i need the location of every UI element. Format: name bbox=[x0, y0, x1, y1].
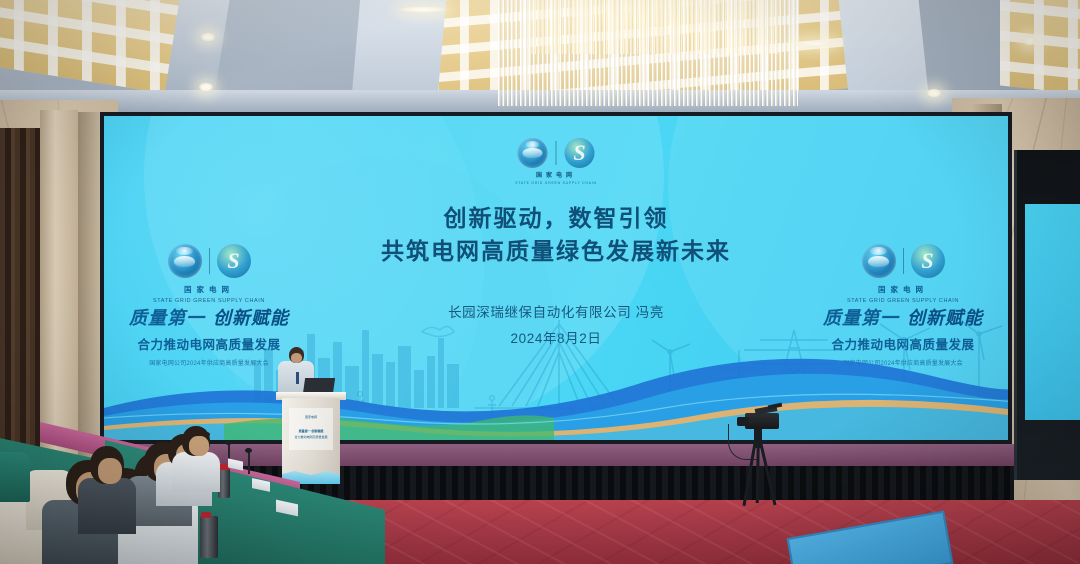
logo-divider bbox=[209, 248, 210, 274]
speaker-face bbox=[291, 353, 302, 363]
ceiling-coffer-right bbox=[1000, 0, 1080, 104]
person-face bbox=[98, 458, 122, 484]
state-grid-emblem-icon bbox=[168, 244, 202, 278]
banner-logo-right bbox=[814, 244, 992, 278]
podium-sign-line1: 质量第一 创新赋能 bbox=[289, 428, 333, 435]
microphone-head-icon bbox=[245, 448, 252, 453]
center-logo-caption: 国家电网 bbox=[515, 170, 597, 179]
ceiling-coffer-left bbox=[0, 0, 180, 96]
crystal-chandelier bbox=[498, 0, 798, 106]
downlight-icon bbox=[200, 32, 216, 42]
state-grid-emblem-icon bbox=[862, 244, 896, 278]
person-body bbox=[172, 452, 220, 492]
thermos-lid bbox=[201, 512, 211, 518]
podium: 国家电网 质量第一 创新赋能 合力推动电网高质量发展 bbox=[282, 398, 340, 484]
podium-sign: 国家电网 质量第一 创新赋能 合力推动电网高质量发展 bbox=[289, 408, 333, 450]
thermos-flask bbox=[200, 516, 218, 558]
scenery-graphic bbox=[104, 290, 1008, 440]
curtain-left bbox=[0, 128, 40, 458]
speaker-badge bbox=[296, 372, 299, 384]
conference-hall-photo: 国家电网 STATE GRID GREEN SUPPLY CHAIN 创新驱动，… bbox=[0, 0, 1080, 564]
downlight-icon bbox=[926, 88, 942, 98]
chandelier-crystal-rods bbox=[528, 0, 778, 54]
banner-logo-left bbox=[120, 244, 298, 278]
bird-icon bbox=[422, 326, 454, 336]
chair bbox=[0, 452, 30, 502]
person-face bbox=[189, 436, 209, 456]
secondary-screen-right bbox=[1014, 150, 1080, 480]
podium-sign-title: 国家电网 bbox=[289, 414, 333, 421]
microphone-head-icon bbox=[225, 440, 232, 445]
logo-divider bbox=[556, 141, 557, 165]
supply-chain-s-emblem-icon bbox=[911, 244, 945, 278]
person-body bbox=[78, 478, 136, 534]
led-screen-bezel: 国家电网 STATE GRID GREEN SUPPLY CHAIN 创新驱动，… bbox=[100, 112, 1012, 444]
podium-sign-line2: 合力推动电网高质量发展 bbox=[289, 434, 333, 441]
column-left-inner bbox=[78, 112, 102, 468]
logo-divider bbox=[903, 248, 904, 274]
led-screen: 国家电网 STATE GRID GREEN SUPPLY CHAIN 创新驱动，… bbox=[104, 116, 1008, 440]
downlight-icon bbox=[792, 40, 838, 47]
state-grid-emblem-icon bbox=[518, 138, 548, 168]
center-logo-caption-en: STATE GRID GREEN SUPPLY CHAIN bbox=[515, 181, 597, 185]
center-logo-caption-group: 国家电网 STATE GRID GREEN SUPPLY CHAIN bbox=[515, 170, 597, 185]
lattice-pattern bbox=[0, 0, 180, 96]
column-left bbox=[40, 110, 78, 470]
video-camera-body bbox=[745, 413, 779, 429]
downlight-icon bbox=[398, 6, 448, 13]
state-grid-logo-center bbox=[518, 138, 595, 168]
supply-chain-s-emblem-icon bbox=[565, 138, 595, 168]
supply-chain-s-emblem-icon bbox=[217, 244, 251, 278]
camera-lens-icon bbox=[737, 417, 749, 426]
ceiling bbox=[0, 0, 1080, 118]
downlight-icon bbox=[198, 82, 214, 92]
secondary-screen-surface bbox=[1025, 204, 1080, 420]
microphone-stand bbox=[248, 452, 250, 474]
lattice-pattern bbox=[1000, 0, 1080, 104]
headline-line-1: 创新驱动，数智引领 bbox=[104, 202, 1008, 235]
downlight-icon bbox=[1022, 36, 1038, 46]
